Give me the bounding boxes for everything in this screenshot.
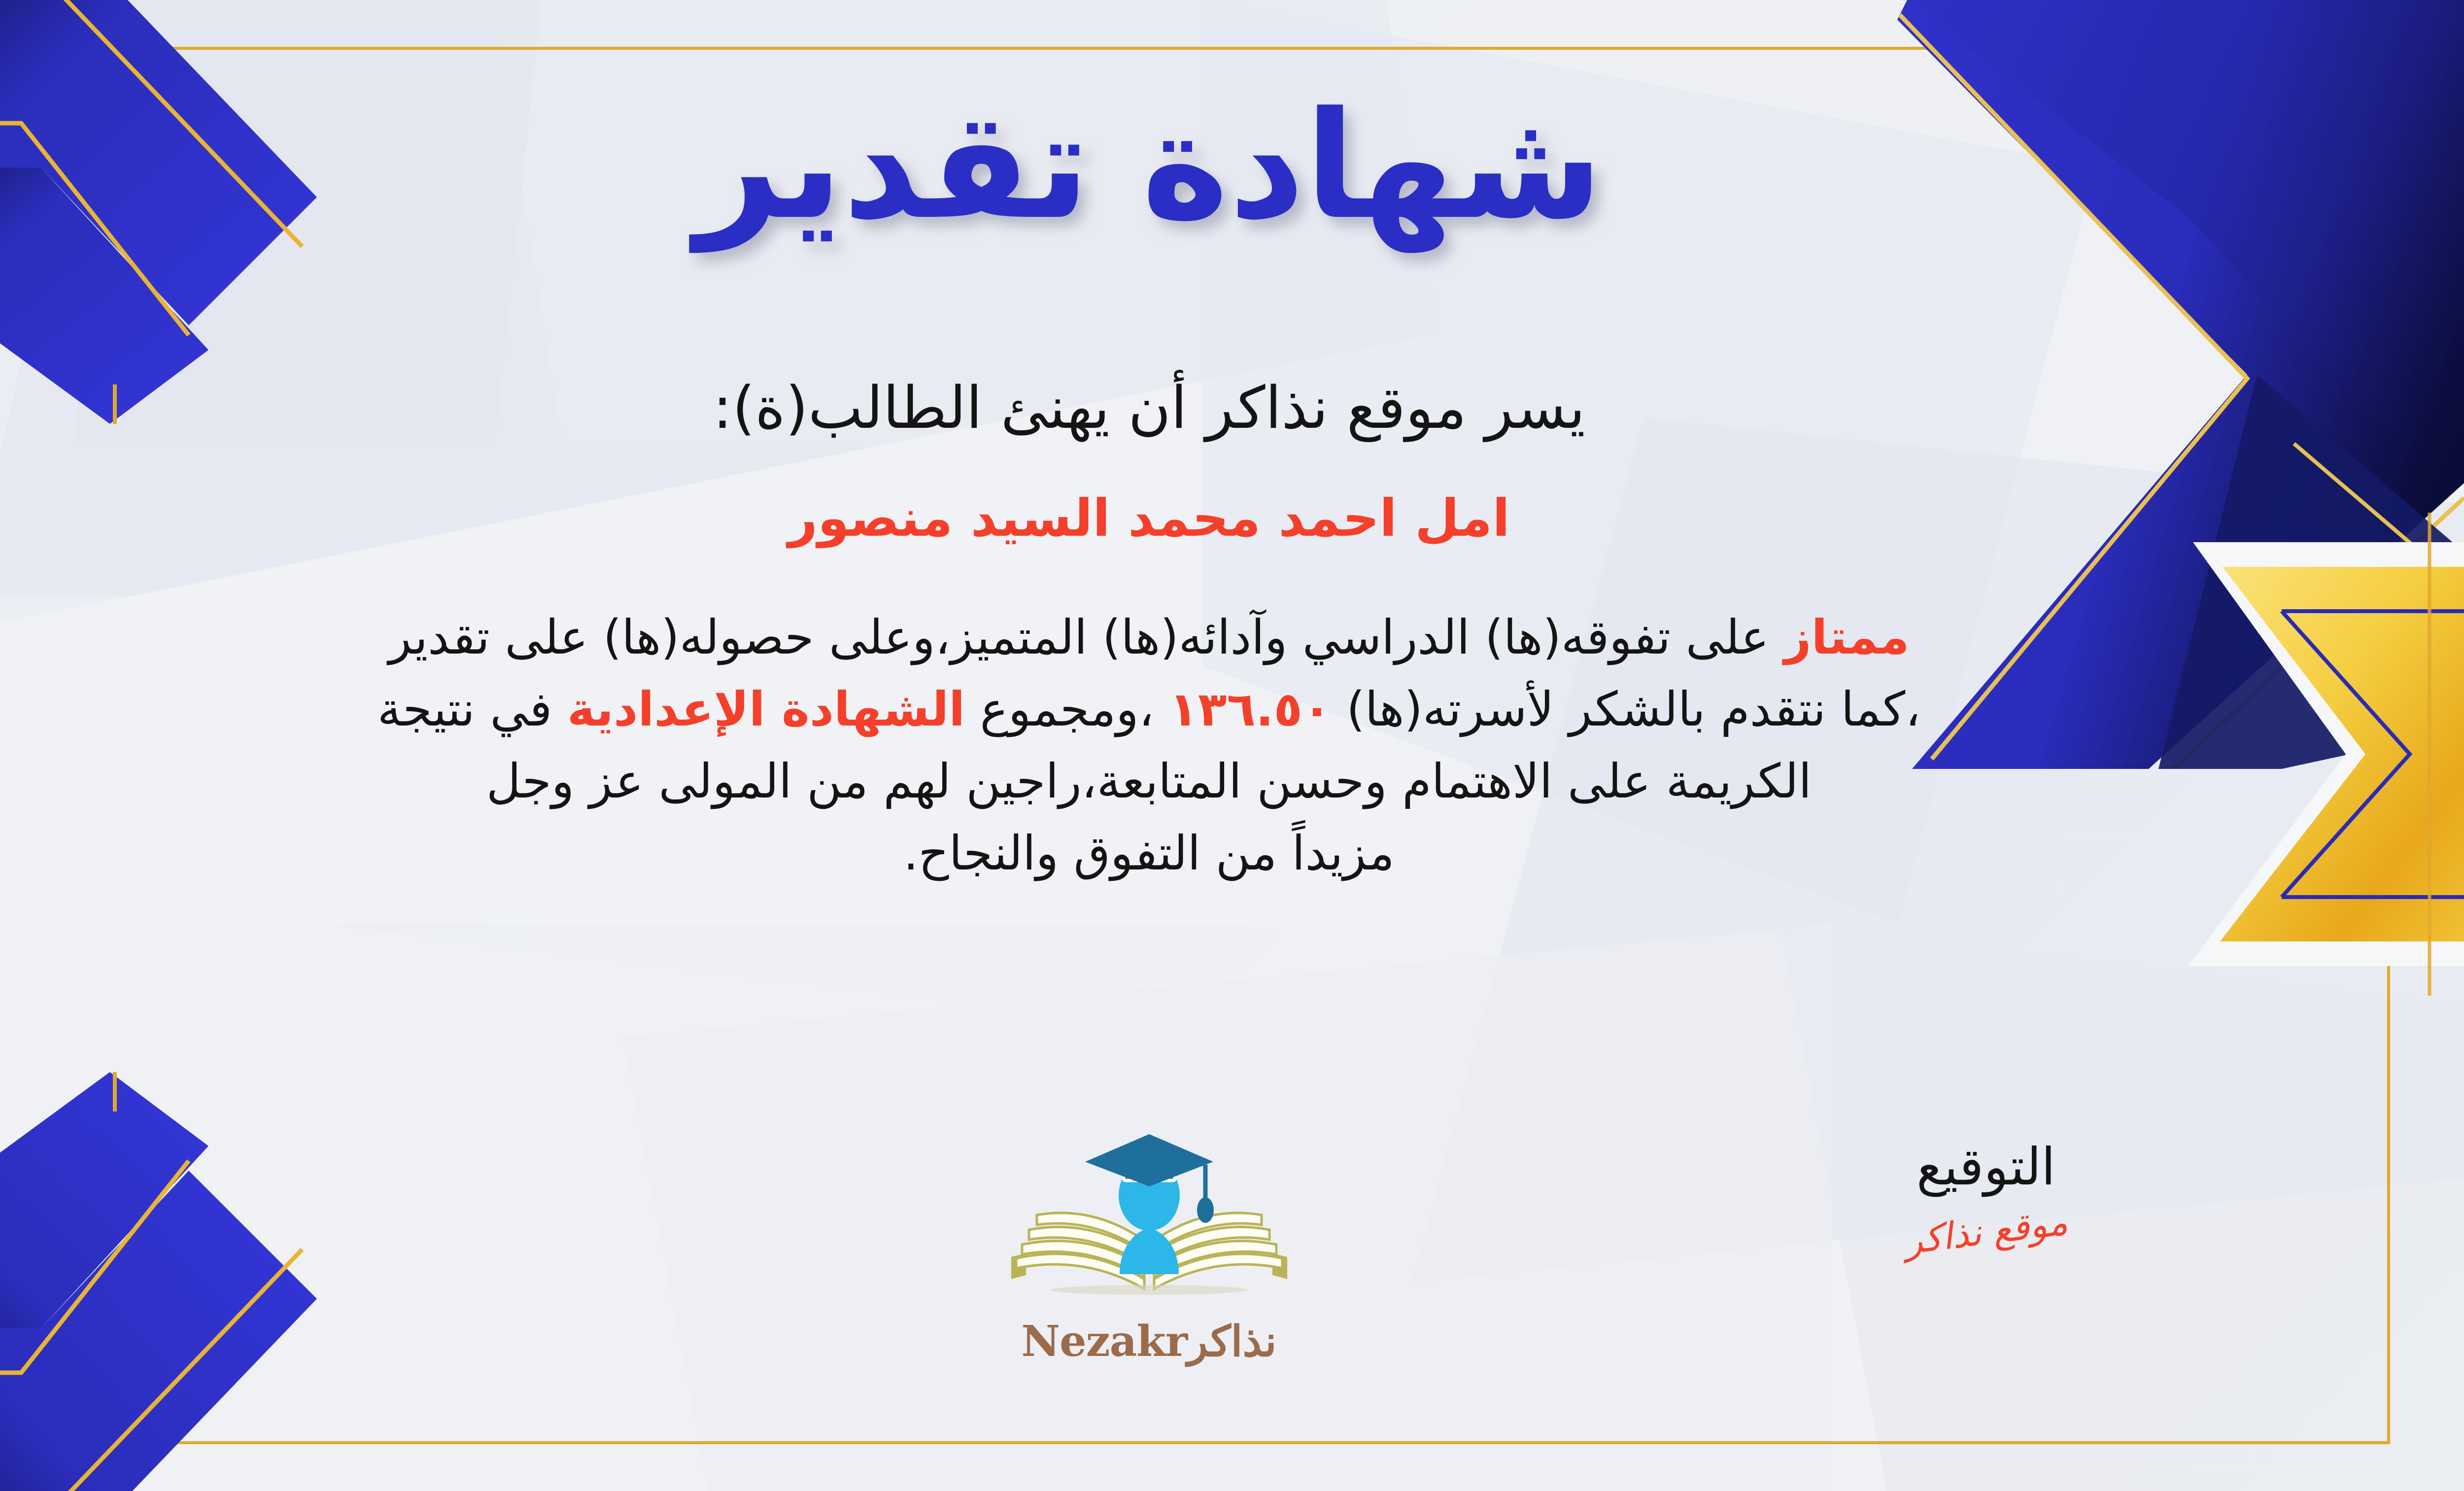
brand-logo-text: Nezakrنذاكر xyxy=(1021,1317,1276,1366)
certificate-title: شهادة تقدير xyxy=(632,69,1667,281)
certificate-title-wrap: شهادة تقدير xyxy=(0,69,2464,283)
body-line-3: الكريمة على الاهتمام وحسن المتابعة،راجين… xyxy=(0,746,2336,818)
brand-logo: Nezakrنذاكر xyxy=(0,1131,2464,1366)
body-line-2-mid: ،ومجموع xyxy=(980,682,1154,737)
certificate-body: يسر موقع نذاكر أن يهنئ الطالب(ة): امل اح… xyxy=(0,375,2336,890)
total-score-value: ١٣٦.٥٠ xyxy=(1169,682,1331,737)
body-paragraph: ممتاز على تفوقه(ها) الدراسي وآدائه(ها) ا… xyxy=(0,602,2336,890)
body-line-1: ممتاز على تفوقه(ها) الدراسي وآدائه(ها) ا… xyxy=(0,602,2336,674)
student-name: امل احمد محمد السيد منصور xyxy=(0,489,2336,548)
graduate-book-icon xyxy=(996,1131,1302,1318)
body-line-2: ،كما نتقدم بالشكر لأسرته(ها) ١٣٦.٥٠ ،ومج… xyxy=(0,674,2336,746)
exam-name-value: الشهادة الإعدادية xyxy=(567,682,965,737)
intro-line: يسر موقع نذاكر أن يهنئ الطالب(ة): xyxy=(0,375,2336,442)
grade-value: ممتاز xyxy=(1784,610,1909,665)
body-line-2-tail: ،كما نتقدم بالشكر لأسرته(ها) xyxy=(1346,682,1920,737)
body-line-4: مزيداً من التفوق والنجاح. xyxy=(0,818,2336,890)
certificate-footer: التوقيع موقع نذاكر xyxy=(0,1141,2464,1417)
certificate-page: شهادة تقدير يسر موقع نذاكر أن يهنئ الطال… xyxy=(0,0,2464,1491)
certificate-title-text: شهادة تقدير xyxy=(688,80,1603,254)
body-line-2-head: في نتيجة xyxy=(377,682,552,737)
body-line-1-text: على تفوقه(ها) الدراسي وآدائه(ها) المتميز… xyxy=(388,610,1769,665)
